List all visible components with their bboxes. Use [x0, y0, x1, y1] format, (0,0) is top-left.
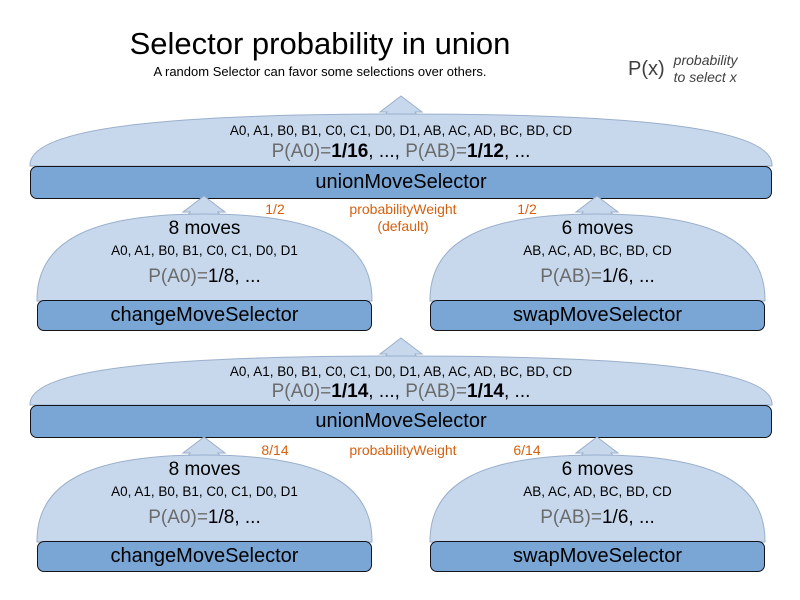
legend-line-1: probability — [674, 52, 738, 68]
union-prob-fn-2b: P(AB)= — [405, 381, 467, 402]
union-prob-fn-1b: P(AB)= — [405, 141, 467, 162]
child-moves-swap-1: 6 moves — [430, 218, 765, 239]
child-probability-swap-2: P(AB)=1/6, ... — [430, 507, 765, 529]
child-bar-label-change-2[interactable]: changeMoveSelector — [37, 541, 372, 572]
child-node-change-1[interactable]: 8 moves A0, A1, B0, B1, C0, C1, D0, D1 P… — [37, 196, 372, 330]
child-items-change-2: A0, A1, B0, B1, C0, C1, D0, D1 — [37, 484, 372, 500]
union-probability-2: P(A0)=1/14, ..., P(AB)=1/14, ... — [30, 381, 772, 403]
child-node-swap-1[interactable]: 6 moves AB, AC, AD, BC, BD, CD P(AB)=1/6… — [430, 196, 765, 330]
child-moves-change-1: 8 moves — [37, 218, 372, 239]
legend-description: probability to select x — [674, 52, 738, 86]
union-node-2[interactable]: A0, A1, B0, B1, C0, C1, D0, D1, AB, AC, … — [30, 338, 772, 438]
union-items-1: A0, A1, B0, B1, C0, C1, D0, D1, AB, AC, … — [30, 123, 772, 139]
header: Selector probability in union A random S… — [0, 0, 800, 100]
legend-symbol: P(x) — [628, 58, 665, 81]
child-bar-label-change-1[interactable]: changeMoveSelector — [37, 300, 372, 331]
child-moves-swap-2: 6 moves — [430, 459, 765, 480]
union-prob-val-1a: 1/16 — [331, 141, 368, 162]
child-prob-fn-swap-2: P(AB)= — [540, 507, 602, 528]
union-node-1[interactable]: A0, A1, B0, B1, C0, C1, D0, D1, AB, AC, … — [30, 96, 772, 201]
child-items-swap-1: AB, AC, AD, BC, BD, CD — [430, 243, 765, 259]
child-prob-val-swap-2: 1/6, ... — [602, 507, 655, 528]
page-title: Selector probability in union — [0, 27, 640, 61]
union-prob-val-2b: 1/14 — [467, 381, 504, 402]
union-prob-sep-1: , ..., — [368, 141, 405, 162]
child-node-swap-2[interactable]: 6 moves AB, AC, AD, BC, BD, CD P(AB)=1/6… — [430, 437, 765, 571]
legend: P(x) probability to select x — [628, 52, 738, 86]
child-prob-val-change-1: 1/8, ... — [208, 266, 261, 287]
union-items-2: A0, A1, B0, B1, C0, C1, D0, D1, AB, AC, … — [30, 364, 772, 380]
child-probability-change-1: P(A0)=1/8, ... — [37, 266, 372, 288]
child-items-change-1: A0, A1, B0, B1, C0, C1, D0, D1 — [37, 243, 372, 259]
union-bar-label-1[interactable]: unionMoveSelector — [30, 166, 772, 199]
child-bar-label-swap-1[interactable]: swapMoveSelector — [430, 300, 765, 331]
child-bar-label-swap-2[interactable]: swapMoveSelector — [430, 541, 765, 572]
child-prob-fn-change-2: P(A0)= — [148, 507, 208, 528]
union-bar-label-2[interactable]: unionMoveSelector — [30, 405, 772, 438]
child-prob-fn-swap-1: P(AB)= — [540, 266, 602, 287]
child-prob-val-swap-1: 1/6, ... — [602, 266, 655, 287]
union-prob-val-2a: 1/14 — [331, 381, 368, 402]
child-prob-fn-change-1: P(A0)= — [148, 266, 208, 287]
child-items-swap-2: AB, AC, AD, BC, BD, CD — [430, 484, 765, 500]
union-prob-tail-2: , ... — [504, 381, 530, 402]
child-prob-val-change-2: 1/8, ... — [208, 507, 261, 528]
union-prob-tail-1: , ... — [504, 141, 530, 162]
legend-line-2: to select x — [674, 69, 737, 85]
union-probability-1: P(A0)=1/16, ..., P(AB)=1/12, ... — [30, 141, 772, 163]
union-prob-sep-2: , ..., — [368, 381, 405, 402]
child-probability-swap-1: P(AB)=1/6, ... — [430, 266, 765, 288]
page-subtitle: A random Selector can favor some selecti… — [0, 64, 640, 79]
child-moves-change-2: 8 moves — [37, 459, 372, 480]
union-prob-fn-1a: P(A0)= — [272, 141, 332, 162]
child-node-change-2[interactable]: 8 moves A0, A1, B0, B1, C0, C1, D0, D1 P… — [37, 437, 372, 571]
union-prob-val-1b: 1/12 — [467, 141, 504, 162]
union-prob-fn-2a: P(A0)= — [272, 381, 332, 402]
child-probability-change-2: P(A0)=1/8, ... — [37, 507, 372, 529]
